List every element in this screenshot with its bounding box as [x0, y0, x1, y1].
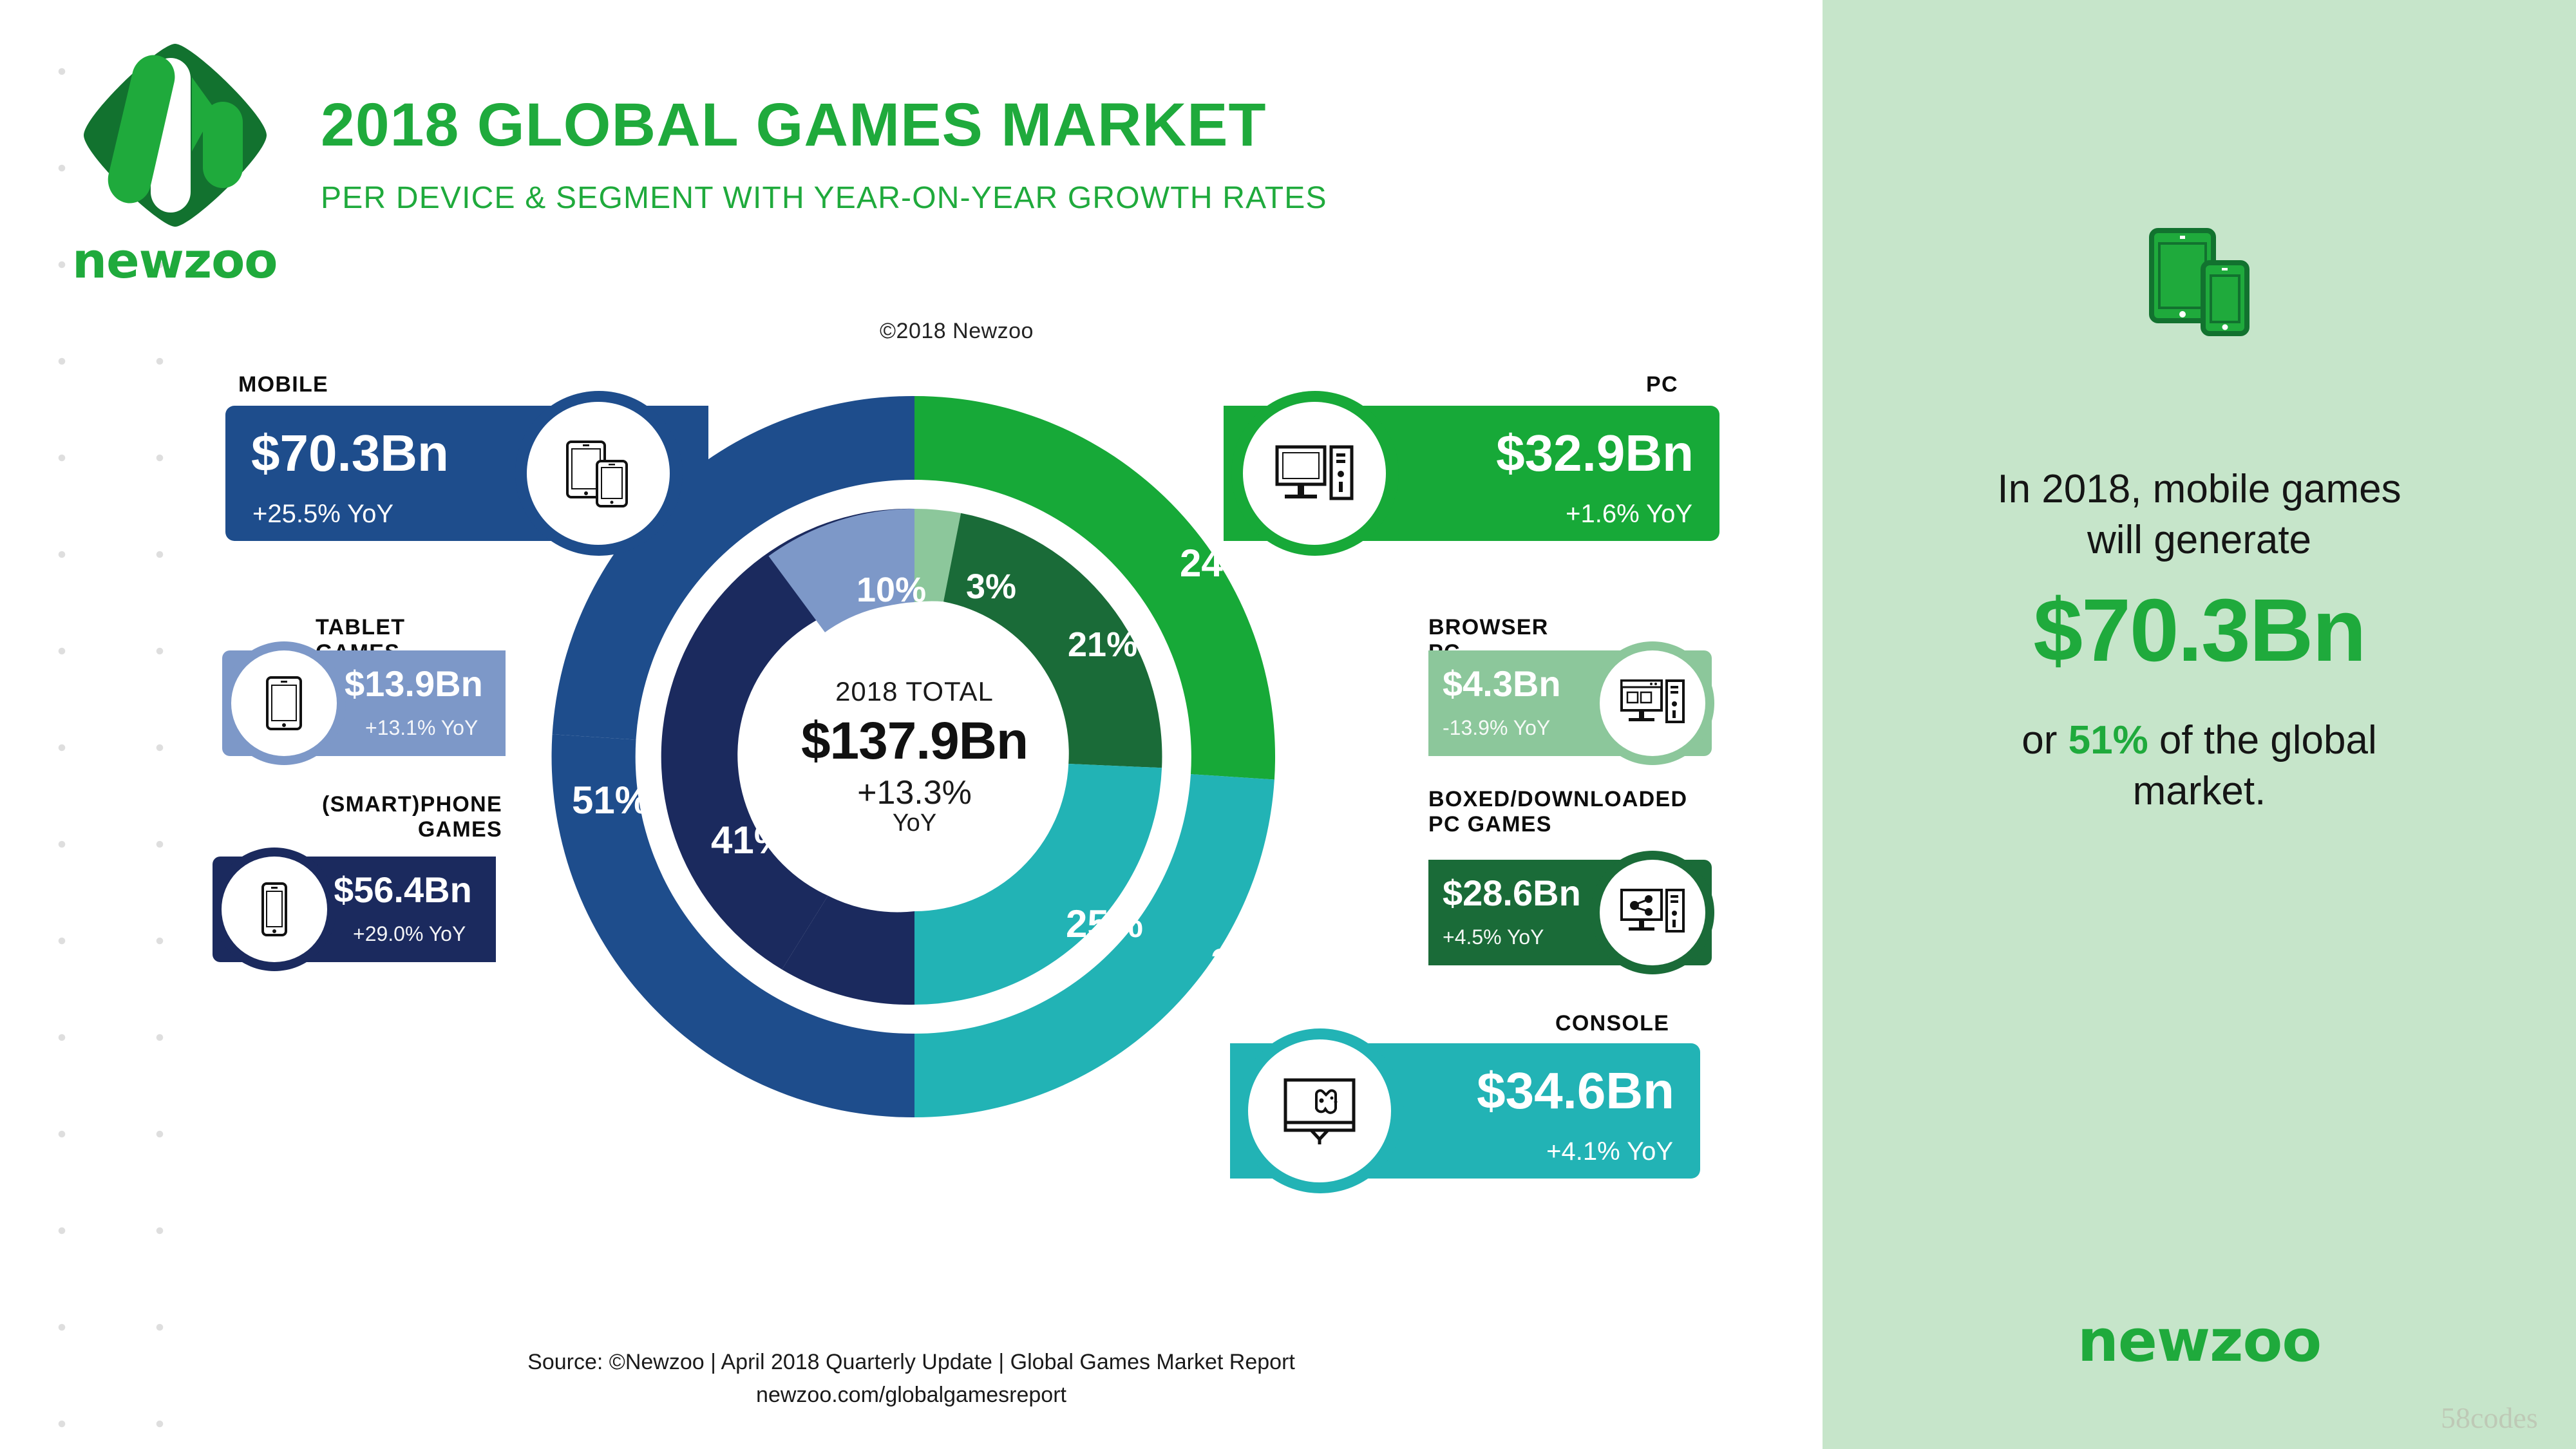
newzoo-diamond-icon — [79, 39, 272, 232]
ring-label-phone: 41% — [711, 818, 788, 862]
tablet-phone-icon — [560, 435, 637, 511]
right-panel-line-1: In 2018, mobile games — [1868, 464, 2531, 515]
right-panel-line-2: will generate — [1868, 515, 2531, 565]
card-boxed-caption: BOXED/DOWNLOADED PC GAMES — [1428, 787, 1687, 837]
card-phone-amount: $56.4Bn — [334, 872, 472, 908]
ring-label-browser: 3% — [966, 567, 1016, 607]
ring-label-boxed: 21% — [1068, 625, 1137, 665]
ring-label-mobile: 51% — [572, 778, 649, 822]
tablet-icon — [263, 675, 305, 732]
card-boxed-icon-pill — [1600, 860, 1705, 965]
card-tablet-icon-pill — [231, 650, 337, 756]
card-boxed-yoy: +4.5% YoY — [1443, 927, 1544, 947]
card-mobile-amount: $70.3Bn — [251, 428, 449, 479]
desktop-pc-icon — [1273, 438, 1356, 509]
right-panel-line-3-post: of the global — [2148, 718, 2377, 762]
card-console-yoy: +4.1% YoY — [1546, 1139, 1673, 1164]
card-browser-icon-pill — [1600, 650, 1705, 756]
footer-source: Source: ©Newzoo | April 2018 Quarterly U… — [0, 1346, 1823, 1412]
page-title: 2018 GLOBAL GAMES MARKET — [321, 90, 1267, 160]
card-browser-yoy: -13.9% YoY — [1443, 717, 1550, 738]
card-mobile-yoy: +25.5% YoY — [252, 501, 393, 527]
right-panel-outro: or 51% of the global market. — [1868, 715, 2531, 817]
copyright-notice: ©2018 Newzoo — [880, 319, 1034, 344]
infographic-canvas: newzoo 2018 GLOBAL GAMES MARKET PER DEVI… — [0, 0, 2576, 1449]
footer-line-1: Source: ©Newzoo | April 2018 Quarterly U… — [0, 1346, 1823, 1379]
card-boxed-amount: $28.6Bn — [1443, 875, 1581, 911]
right-panel-highlight-amount: $70.3Bn — [1868, 580, 2531, 682]
right-panel-line-4: market. — [1868, 766, 2531, 817]
card-phone-yoy: +29.0% YoY — [353, 923, 466, 944]
page-subtitle: PER DEVICE & SEGMENT WITH YEAR-ON-YEAR G… — [321, 180, 1327, 216]
donut-hole — [761, 603, 1068, 910]
card-pc-amount: $32.9Bn — [1496, 428, 1694, 479]
card-pc-yoy: +1.6% YoY — [1566, 501, 1692, 527]
ring-label-tablet: 10% — [857, 570, 926, 610]
card-console-caption: CONSOLE — [1555, 1011, 1669, 1036]
right-panel-brand: newzoo — [1868, 1307, 2531, 1375]
watermark: 58codes — [2441, 1401, 2538, 1435]
card-phone-caption: (SMART)PHONE GAMES — [316, 792, 502, 842]
card-tablet-amount: $13.9Bn — [345, 666, 483, 702]
card-pc-caption: PC — [1646, 372, 1678, 397]
phone-icon — [258, 881, 291, 938]
ring-label-console-inner: 25% — [1066, 902, 1143, 946]
logo-wordmark: newzoo — [72, 232, 278, 289]
card-console-icon-pill — [1248, 1039, 1391, 1182]
footer-line-2[interactable]: newzoo.com/globalgamesreport — [0, 1379, 1823, 1412]
card-mobile-caption: MOBILE — [238, 372, 328, 397]
right-panel-line-3: or 51% of the global — [1868, 715, 2531, 766]
newzoo-logo: newzoo — [72, 39, 265, 283]
card-mobile-icon-pill — [527, 402, 670, 545]
card-phone-icon-pill — [222, 857, 327, 962]
card-browser-amount: $4.3Bn — [1443, 666, 1561, 702]
card-pc-icon-pill — [1243, 402, 1386, 545]
ring-label-console-outer: 25% — [1211, 940, 1288, 985]
right-panel-intro: In 2018, mobile games will generate — [1868, 464, 2531, 566]
console-tv-icon — [1279, 1075, 1360, 1147]
browser-pc-icon — [1619, 676, 1686, 731]
card-console-amount: $34.6Bn — [1477, 1065, 1674, 1117]
card-tablet-yoy: +13.1% YoY — [365, 717, 478, 738]
ring-label-pc: 24% — [1180, 541, 1257, 585]
download-pc-icon — [1619, 885, 1686, 940]
right-panel-line-3-pre: or — [2022, 718, 2068, 762]
tablet-phone-icon-large — [2148, 225, 2251, 354]
right-panel-share-pct: 51% — [2069, 718, 2148, 762]
